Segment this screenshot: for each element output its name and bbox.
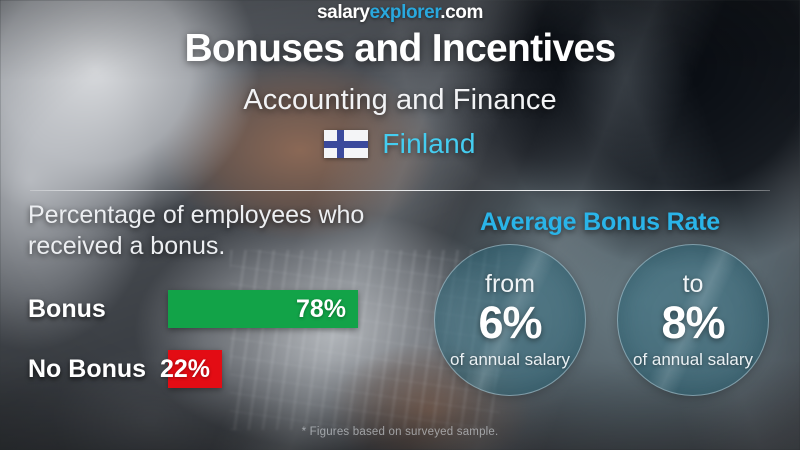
bar-label-bonus: Bonus — [28, 295, 168, 324]
country-name: Finland — [382, 128, 475, 160]
bar-label-no-bonus: No Bonus — [28, 355, 168, 384]
bar-fill-bonus: 78% — [168, 290, 358, 328]
bonus-chart-caption: Percentage of employees who received a b… — [28, 200, 428, 262]
circle-to-suffix: of annual salary — [633, 351, 753, 368]
flag-cross-horizontal — [324, 141, 368, 148]
circle-to-prefix: to — [683, 272, 704, 297]
logo-text-prefix: salary — [317, 2, 370, 23]
bar-fill-no-bonus: 22% — [168, 350, 222, 388]
site-logo[interactable]: salaryexplorer.com — [0, 2, 800, 24]
infographic-canvas: salaryexplorer.com Bonuses and Incentive… — [0, 0, 800, 450]
bar-row-bonus: Bonus 78% — [28, 290, 358, 328]
finland-flag-icon — [324, 130, 368, 158]
circle-from-suffix: of annual salary — [450, 351, 570, 368]
average-bonus-rate-heading: Average Bonus Rate — [420, 208, 780, 237]
circle-to-value: 8% — [661, 299, 724, 348]
page-subtitle: Accounting and Finance — [0, 84, 800, 117]
circle-from-prefix: from — [485, 272, 535, 297]
bar-value-bonus: 78% — [296, 295, 346, 324]
footnote: * Figures based on surveyed sample. — [0, 426, 800, 438]
bar-value-no-bonus: 22% — [160, 355, 210, 384]
logo-text-accent: explorer — [370, 2, 441, 23]
circle-from-value: 6% — [478, 299, 541, 348]
country-row: Finland — [0, 128, 800, 160]
logo-text-suffix: .com — [440, 2, 483, 23]
page-title: Bonuses and Incentives — [0, 27, 800, 71]
bar-row-no-bonus: No Bonus 22% — [28, 350, 222, 388]
header-divider — [30, 190, 770, 191]
bonus-rate-circle-from: from 6% of annual salary — [434, 244, 586, 396]
flag-cross-vertical — [337, 130, 344, 158]
bonus-rate-circle-to: to 8% of annual salary — [617, 244, 769, 396]
